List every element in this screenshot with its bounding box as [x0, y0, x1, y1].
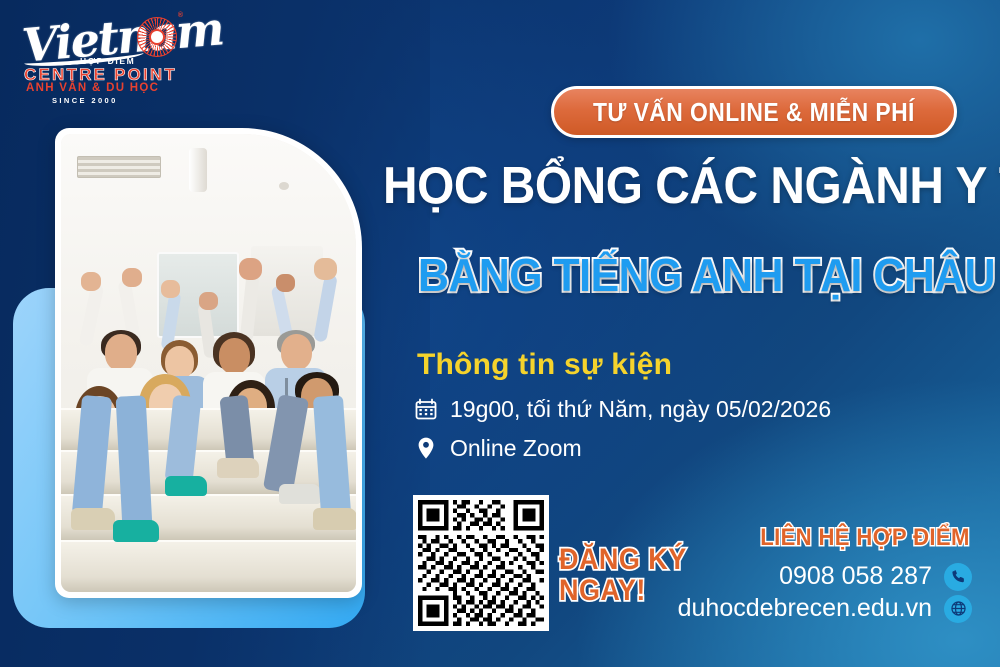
page-subtitle: BẰNG TIẾNG ANH TẠI CHÂU ÂU — [418, 252, 1000, 298]
register-cta[interactable]: ĐĂNG KÝ NGAY! — [559, 545, 687, 606]
phone-icon — [944, 563, 972, 591]
photo-image — [61, 134, 356, 592]
starburst-icon — [137, 17, 177, 57]
event-date-text: 19g00, tối thứ Năm, ngày 05/02/2026 — [450, 396, 831, 423]
logo-subtitle: ANH VĂN & DU HỌC — [26, 82, 159, 94]
event-date-row: 19g00, tối thứ Năm, ngày 05/02/2026 — [414, 396, 831, 423]
photo-frame — [55, 128, 362, 598]
contact-website-row[interactable]: duhocdebrecen.edu.vn — [678, 594, 972, 623]
calendar-icon — [414, 397, 438, 423]
event-location-row: Online Zoom — [414, 435, 582, 462]
logo-since: SINCE 2000 — [52, 96, 118, 105]
location-pin-icon — [414, 436, 438, 462]
photo-scene — [61, 134, 356, 592]
contact-heading: LIÊN HỆ HỢP ĐIỂM — [760, 524, 970, 552]
contact-phone-text: 0908 058 287 — [779, 562, 932, 591]
qr-code-image — [418, 500, 544, 626]
badge-label: TƯ VẤN ONLINE & MIỄN PHÍ — [593, 97, 915, 128]
event-location-text: Online Zoom — [450, 435, 582, 462]
contact-website-text: duhocdebrecen.edu.vn — [678, 594, 932, 623]
poster-canvas: Vietnam ® HỢP ĐIỂM CENTRE POINT ANH VĂN … — [0, 0, 1000, 667]
registered-mark-icon: ® — [178, 12, 183, 19]
contact-phone-row[interactable]: 0908 058 287 — [779, 562, 972, 591]
qr-code[interactable] — [413, 495, 549, 631]
page-title: HỌC BỔNG CÁC NGÀNH Y TẾ — [383, 160, 935, 212]
register-cta-line1: ĐĂNG KÝ — [559, 545, 687, 576]
globe-icon — [944, 595, 972, 623]
register-cta-line2: NGAY! — [559, 576, 687, 607]
free-consultation-badge[interactable]: TƯ VẤN ONLINE & MIỄN PHÍ — [551, 86, 957, 138]
brand-logo[interactable]: Vietnam ® HỢP ĐIỂM CENTRE POINT ANH VĂN … — [18, 12, 183, 94]
event-info-heading: Thông tin sự kiện — [417, 348, 672, 382]
